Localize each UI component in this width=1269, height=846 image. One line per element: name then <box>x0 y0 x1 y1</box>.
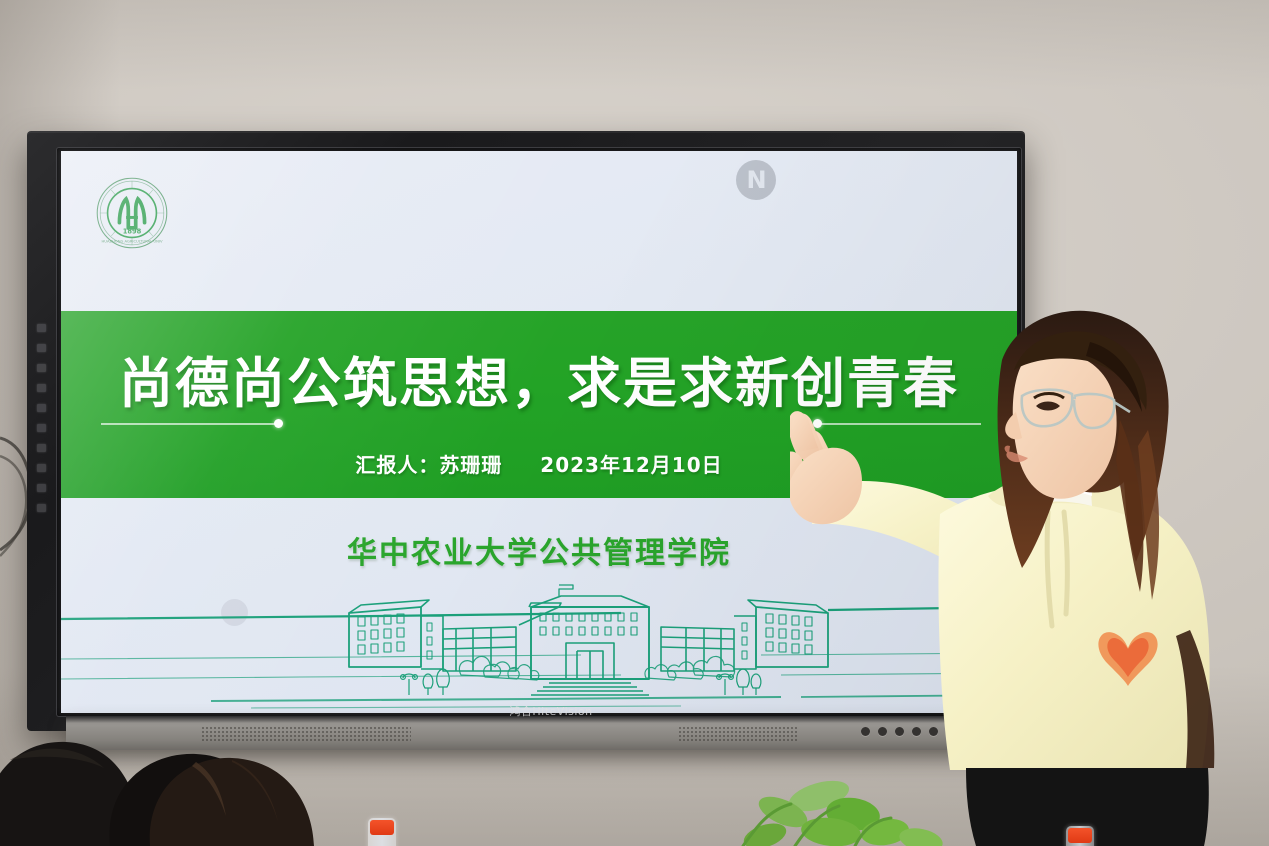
decorative-dot-left <box>274 419 283 428</box>
svg-text:1898: 1898 <box>123 228 142 236</box>
bottle-cap-right <box>1068 828 1092 843</box>
presentation-date: 2023年12月10日 <box>540 453 722 477</box>
presenter-label: 汇报人：苏珊珊 <box>355 453 502 477</box>
port-icon-10 <box>37 504 46 512</box>
bottle-cap-left <box>370 820 394 835</box>
watermark-letter: N <box>746 166 765 194</box>
potted-plant <box>735 770 965 846</box>
port-icon-1 <box>37 324 46 332</box>
port-icon-5 <box>37 404 46 412</box>
svg-text:HUAZHONG AGRICULTURAL UNIV: HUAZHONG AGRICULTURAL UNIV <box>102 240 163 244</box>
watermark-logo-icon: N <box>736 160 776 200</box>
port-icon-6 <box>37 424 46 432</box>
foreground-audience <box>0 690 1269 846</box>
port-icon-4 <box>37 384 46 392</box>
port-icon-9 <box>37 484 46 492</box>
decorative-line-left <box>101 423 276 425</box>
wall-shading-top <box>0 0 1269 90</box>
port-icon-8 <box>37 464 46 472</box>
port-icon-7 <box>37 444 46 452</box>
port-icon-2 <box>37 344 46 352</box>
left-bezel-port-strip[interactable] <box>32 316 51 656</box>
university-seal-icon: 1898 HUAZHONG AGRICULTURAL UNIV <box>95 176 169 250</box>
port-icon-3 <box>37 364 46 372</box>
